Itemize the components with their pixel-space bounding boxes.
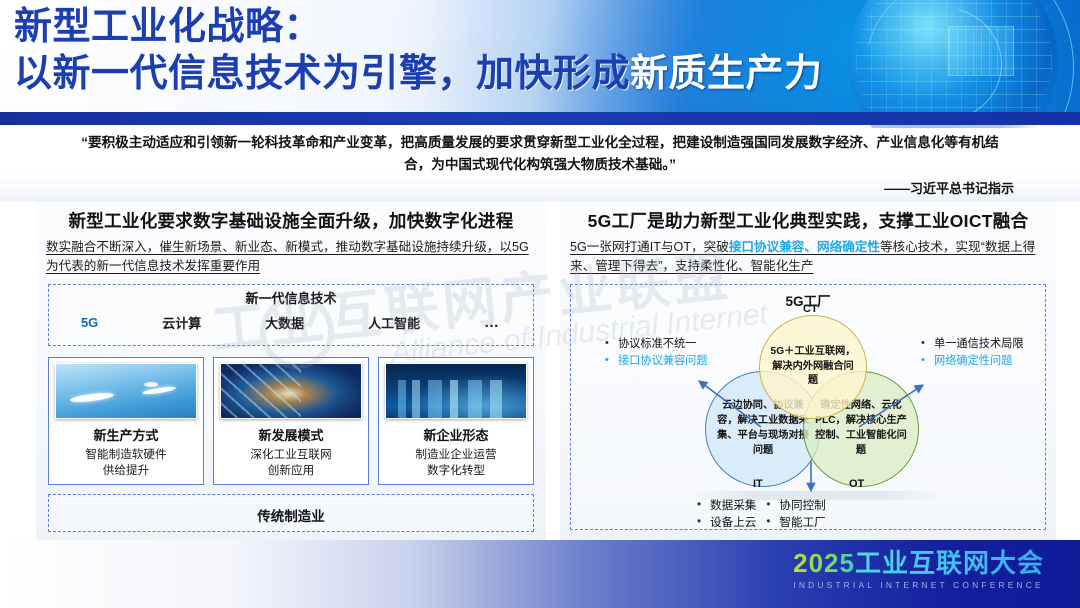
conference-logo-main: 2025工业互联网大会 (793, 550, 1044, 577)
card-title: 新发展模式 (258, 425, 323, 444)
card-subtitle-line1: 深化工业互联网 (250, 448, 331, 461)
right-desc-highlight: 接口协议兼容、网络确定性 (729, 240, 880, 254)
card-subtitle: 制造业企业运营 数字化转型 (415, 447, 496, 479)
card-title: 新企业形态 (423, 425, 488, 444)
industrial-tech-photo-icon (220, 363, 362, 419)
new-gen-tech-tag-list: 5G 云计算 大数据 人工智能 … (49, 311, 533, 338)
left-panel-title: 新型工业化要求数字基础设施全面升级，加快数字化进程 (36, 208, 546, 233)
right-panel-title: 5G工厂是助力新型工业化典型实践，支撑工业OICT融合 (560, 208, 1056, 233)
tech-tag-bigdata[interactable]: 大数据 (251, 311, 318, 338)
slide-title-line-2: 以新一代信息技术为引擎，加快形成新质生产力 (14, 55, 823, 93)
tech-tag-more[interactable]: … (470, 312, 515, 337)
card-subtitle: 深化工业互联网 创新应用 (250, 447, 331, 479)
slide-title-line-2-blue: 以新一代信息技术为引擎，加快形成 (14, 53, 630, 95)
traditional-manufacturing-box: 传统制造业 (48, 494, 534, 532)
tech-tag-cloud[interactable]: 云计算 (148, 311, 215, 338)
new-gen-tech-caption: 新一代信息技术 (49, 288, 533, 307)
new-gen-tech-box: 新一代信息技术 5G 云计算 大数据 人工智能 … (48, 284, 534, 346)
traditional-manufacturing-label: 传统制造业 (49, 505, 533, 525)
conference-logo-name-en: INDUSTRIAL INTERNET CONFERENCE (793, 580, 1044, 590)
tech-tag-5g[interactable]: 5G (67, 313, 112, 336)
card-subtitle-line2: 供给提升 (103, 464, 149, 477)
card-new-production-mode[interactable]: 新生产方式 智能制造软硬件 供给提升 (48, 357, 204, 485)
card-subtitle-line2: 创新应用 (268, 464, 314, 477)
right-panel: 5G工厂是助力新型工业化典型实践，支撑工业OICT融合 5G一张网打通IT与OT… (560, 202, 1056, 540)
conference-logo: 2025工业互联网大会 INDUSTRIAL INTERNET CONFEREN… (793, 550, 1044, 590)
conference-logo-name-cn: 工业互联网大会 (855, 548, 1044, 578)
slide-title-line-2-white: 新质生产力 (630, 53, 823, 95)
right-panel-description: 5G一张网打通IT与OT，突破接口协议兼容、网络确定性等核心技术，实现“数据上得… (570, 238, 1046, 276)
card-new-development-model[interactable]: 新发展模式 深化工业互联网 创新应用 (213, 357, 369, 485)
card-new-enterprise-form[interactable]: 新企业形态 制造业企业运营 数字化转型 (378, 357, 534, 485)
circuit-chip-icon (948, 26, 1014, 76)
left-panel-description: 数实融合不断深入，催生新场景、新业态、新模式，推动数字基础设施持续升级，以5G为… (46, 238, 536, 276)
slide-title-line-1: 新型工业化战略： (14, 8, 322, 46)
tech-tag-ai[interactable]: 人工智能 (354, 311, 434, 338)
quote-section: “要积极主动适应和引领新一轮科技革命和产业变革，把高质量发展的要求贯穿新型工业化… (0, 128, 1080, 202)
venn-arrows-icon (571, 285, 1047, 531)
night-city-photo-icon (385, 363, 527, 419)
right-desc-pre: 5G一张网打通IT与OT，突破 (570, 240, 729, 254)
quote-attribution: ——习近平总书记指示 (884, 178, 1014, 197)
card-subtitle: 智能制造软硬件 供给提升 (85, 447, 166, 479)
5g-factory-diagram-box: 5G工厂 5G＋工业互联网，解决内外网融合问题 云边协同、协议兼容，解决工业数据… (570, 284, 1046, 530)
card-subtitle-line2: 数字化转型 (427, 464, 485, 477)
slide-footer: 2025工业互联网大会 INDUSTRIAL INTERNET CONFEREN… (0, 540, 1080, 608)
conference-logo-year: 2025 (793, 548, 855, 578)
transformation-card-list: 新生产方式 智能制造软硬件 供给提升 新发展模式 深化工业互联网 创新应用 新企… (48, 357, 534, 485)
card-subtitle-line1: 制造业企业运营 (415, 448, 496, 461)
venn-label-ct: CT (803, 303, 818, 315)
slide-header: 新型工业化战略： 以新一代信息技术为引擎，加快形成新质生产力 (0, 0, 1080, 118)
airplanes-photo-icon (55, 363, 197, 419)
header-divider-bar (0, 112, 1080, 125)
slide-root: 新型工业化战略： 以新一代信息技术为引擎，加快形成新质生产力 “要积极主动适应和… (0, 0, 1080, 608)
venn-label-it: IT (753, 478, 763, 490)
quote-text: “要积极主动适应和引领新一轮科技革命和产业变革，把高质量发展的要求贯穿新型工业化… (70, 132, 1010, 176)
venn-label-ot: OT (849, 478, 864, 490)
left-panel: 新型工业化要求数字基础设施全面升级，加快数字化进程 数实融合不断深入，催生新场景… (36, 202, 546, 540)
card-subtitle-line1: 智能制造软硬件 (85, 448, 166, 461)
card-title: 新生产方式 (93, 425, 158, 444)
